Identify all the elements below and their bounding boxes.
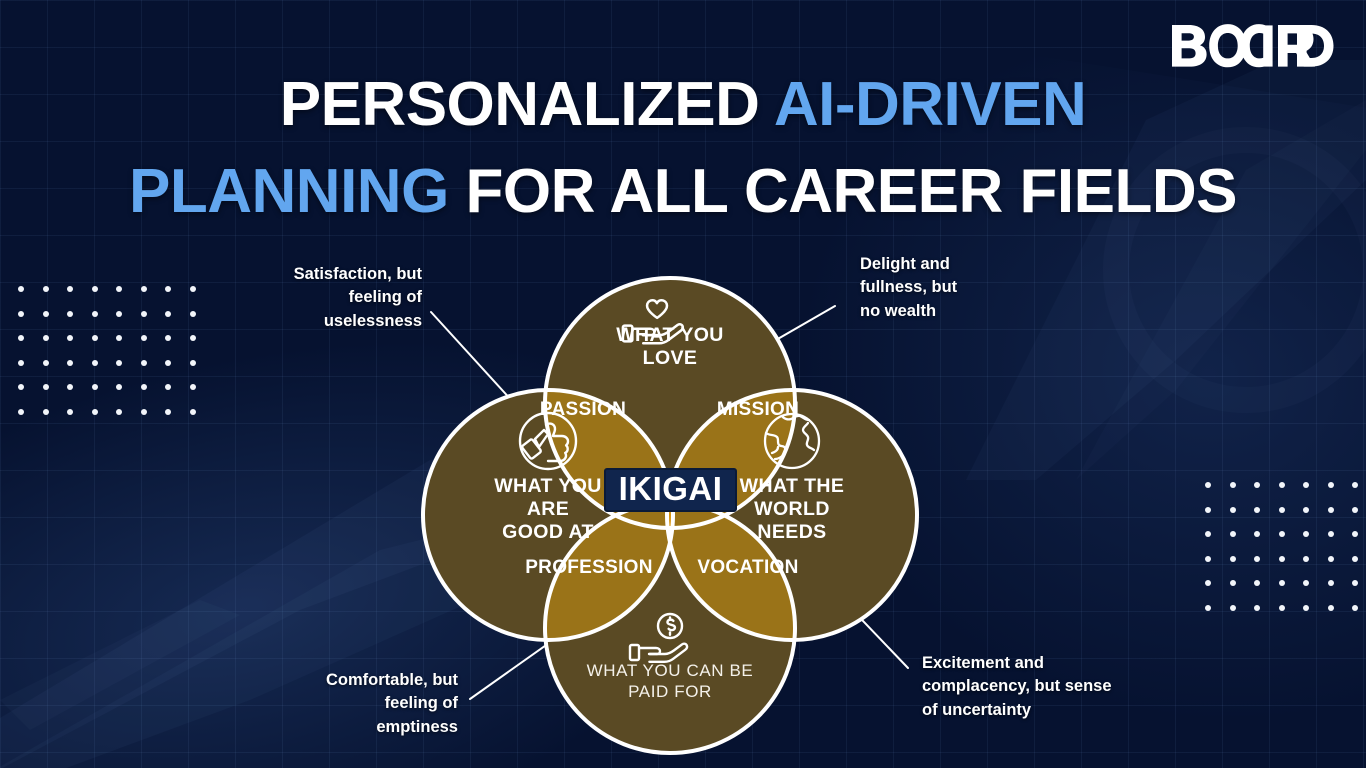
decorative-dot [165,311,171,317]
decorative-dot [1279,580,1285,586]
circle-label-world-line3: NEEDS [757,521,826,543]
decorative-dot [1205,507,1211,513]
decorative-dot [67,384,73,390]
decorative-dot [116,286,122,292]
annotation-excitement: Excitement and complacency, but sense of… [922,652,1137,722]
decorative-dot [1254,531,1260,537]
headline-text-for-all-career-fields: FOR ALL CAREER FIELDS [449,157,1237,226]
ikigai-label: IKIGAI [619,470,723,507]
annotation-satisfaction: Satisfaction, but feeling of uselessness [236,263,422,333]
decorative-dot [1303,507,1309,513]
decorative-dot [190,335,196,341]
decorative-dot [116,335,122,341]
decorative-dot [1254,556,1260,562]
decorative-dot [1328,531,1334,537]
decorative-dot [1279,482,1285,488]
decorative-dot [43,335,49,341]
decorative-dot [1205,556,1211,562]
decorative-dot [18,409,24,415]
decorative-dot [116,360,122,366]
decorative-dot [1254,482,1260,488]
annotation-excitement-line1: Excitement and [922,652,1137,675]
decorative-dot [190,360,196,366]
decorative-dot [165,384,171,390]
annotation-excitement-line2: complacency, but sense [922,675,1137,698]
decorative-dot [1303,580,1309,586]
decorative-dot [92,335,98,341]
decorative-dot [1352,556,1358,562]
circle-label-world-line2: WORLD [754,498,830,520]
decorative-dot [165,409,171,415]
overlap-label-profession[interactable]: PROFESSION [525,557,653,578]
decorative-dot [165,335,171,341]
decorative-dot [18,384,24,390]
decorative-dot [67,335,73,341]
decorative-dot [1352,580,1358,586]
annotation-satisfaction-line1: Satisfaction, but [236,263,422,286]
decorative-dot [43,286,49,292]
ikigai-center-badge[interactable]: IKIGAI [605,469,736,511]
decorative-dot [43,360,49,366]
circle-label-goodat-line2: ARE [527,498,569,520]
decorative-dot [1230,482,1236,488]
decorative-dot [141,409,147,415]
annotation-delight: Delight and fullness, but no wealth [860,253,1060,323]
decorative-dot [141,384,147,390]
decorative-dot [67,360,73,366]
decorative-dot [190,409,196,415]
headline-line-2: PLANNING FOR ALL CAREER FIELDS [0,149,1366,236]
decorative-dot [1328,580,1334,586]
decorative-dot [141,286,147,292]
circle-label-goodat-line1: WHAT YOU [494,475,602,497]
circle-label-paid-line1: WHAT YOU CAN BE [587,661,754,680]
decorative-dot [1205,482,1211,488]
decorative-dot [92,360,98,366]
decorative-dot [1352,605,1358,611]
decorative-dot [1205,531,1211,537]
decorative-dot [67,311,73,317]
circle-label-love-line1: WHAT YOU [616,324,724,346]
decorative-dot [92,409,98,415]
decorative-dot [1230,580,1236,586]
annotation-comfortable-line3: emptiness [276,716,458,739]
decorative-dot [1279,605,1285,611]
overlap-label-vocation[interactable]: VOCATION [697,557,798,578]
circle-label-paid-line2: PAID FOR [628,682,712,701]
annotation-delight-line2: fullness, but [860,276,1060,299]
annotation-delight-line3: no wealth [860,300,1060,323]
decorative-dot [190,384,196,390]
decorative-dot [116,384,122,390]
decorative-dot [1328,556,1334,562]
decorative-dot [1279,531,1285,537]
page-title: PERSONALIZED AI-DRIVEN PLANNING FOR ALL … [0,62,1366,236]
circle-label-world-line1: WHAT THE [740,475,845,497]
overlap-label-mission[interactable]: MISSION [717,399,799,420]
circle-label-love-line2: LOVE [643,347,698,369]
decorative-dot [1303,482,1309,488]
circle-label-goodat-line3: GOOD AT [502,521,594,543]
decorative-dot [92,384,98,390]
decorative-dot [165,286,171,292]
decorative-dot [18,286,24,292]
decorative-dot [1230,531,1236,537]
annotation-satisfaction-line2: feeling of [236,286,422,309]
headline-line-1: PERSONALIZED AI-DRIVEN [0,62,1366,149]
decorative-dot [165,360,171,366]
decorative-dot [67,286,73,292]
decorative-dot [116,311,122,317]
decorative-dot [1254,605,1260,611]
decorative-dot [1230,507,1236,513]
decorative-dot [141,360,147,366]
decorative-dot [1205,605,1211,611]
decorative-dot [141,335,147,341]
decorative-dot [18,311,24,317]
annotation-comfortable-line1: Comfortable, but [276,669,458,692]
headline-text-personalized: PERSONALIZED [280,70,774,139]
decorative-dot [67,409,73,415]
decorative-dot [18,335,24,341]
decorative-dot [43,409,49,415]
decorative-dot [116,409,122,415]
decorative-dot [92,286,98,292]
decorative-dot [1254,580,1260,586]
decorative-dot [1352,482,1358,488]
decorative-dot [1328,605,1334,611]
annotation-satisfaction-line3: uselessness [236,310,422,333]
decorative-dot [1352,507,1358,513]
decorative-dot [190,311,196,317]
decorative-dot [1303,531,1309,537]
annotation-excitement-line3: of uncertainty [922,699,1137,722]
decorative-dot [1279,556,1285,562]
decorative-dot [1303,605,1309,611]
overlap-label-passion[interactable]: PASSION [540,399,626,420]
decorative-dot [92,311,98,317]
decorative-dot [1279,507,1285,513]
decorative-dot [18,360,24,366]
decorative-dot [1230,556,1236,562]
ikigai-venn-diagram: WHAT YOU LOVE WHAT YOU ARE GOOD AT WHAT … [403,243,938,743]
annotation-comfortable: Comfortable, but feeling of emptiness [276,669,458,739]
decorative-dot [1303,556,1309,562]
decorative-dot [43,311,49,317]
headline-text-ai-driven: AI-DRIVEN [774,70,1086,139]
decorative-dot [141,311,147,317]
decorative-dot [1352,531,1358,537]
annotation-comfortable-line2: feeling of [276,692,458,715]
annotation-delight-line1: Delight and [860,253,1060,276]
headline-text-planning: PLANNING [129,157,449,226]
decorative-dot [1230,605,1236,611]
decorative-dot [43,384,49,390]
decorative-dot [1254,507,1260,513]
decorative-dot [1328,507,1334,513]
decorative-dot [190,286,196,292]
decorative-dot [1328,482,1334,488]
decorative-dot [1205,580,1211,586]
